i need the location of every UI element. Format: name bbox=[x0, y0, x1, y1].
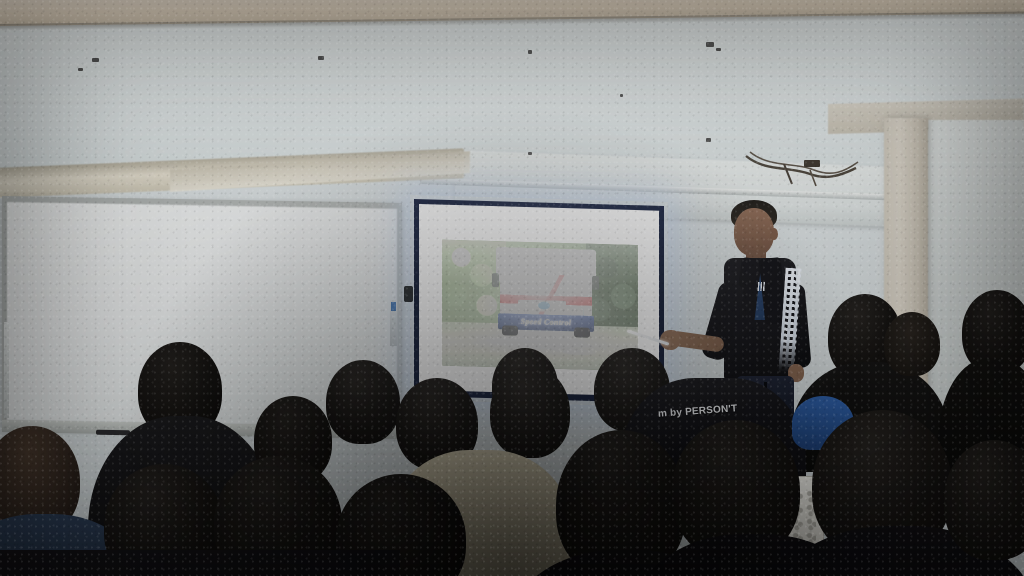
wall-mark bbox=[706, 138, 711, 142]
wall-mark bbox=[92, 58, 99, 62]
audience-foreground-mass bbox=[0, 550, 400, 576]
photo-scene: Speed Control bbox=[0, 0, 1024, 576]
wall-mark bbox=[716, 48, 721, 51]
audience-head bbox=[884, 312, 940, 376]
presenter-head bbox=[734, 208, 774, 256]
audience: m by PERSON'T bbox=[0, 300, 1024, 576]
wall-mark bbox=[78, 68, 83, 71]
presenter-ear bbox=[770, 228, 778, 240]
wall-mark bbox=[528, 50, 532, 54]
wall-mark bbox=[318, 56, 324, 60]
truck-mirror-right bbox=[592, 276, 599, 290]
three-stripes-logo-icon bbox=[753, 282, 767, 291]
truck-mirror-left bbox=[492, 273, 499, 287]
wall-mark bbox=[620, 94, 623, 97]
wall-mark bbox=[528, 152, 532, 155]
ceiling-cables-icon bbox=[740, 150, 860, 192]
wall-mark bbox=[706, 42, 714, 47]
audience-head bbox=[326, 360, 400, 444]
audience-head bbox=[490, 366, 570, 458]
